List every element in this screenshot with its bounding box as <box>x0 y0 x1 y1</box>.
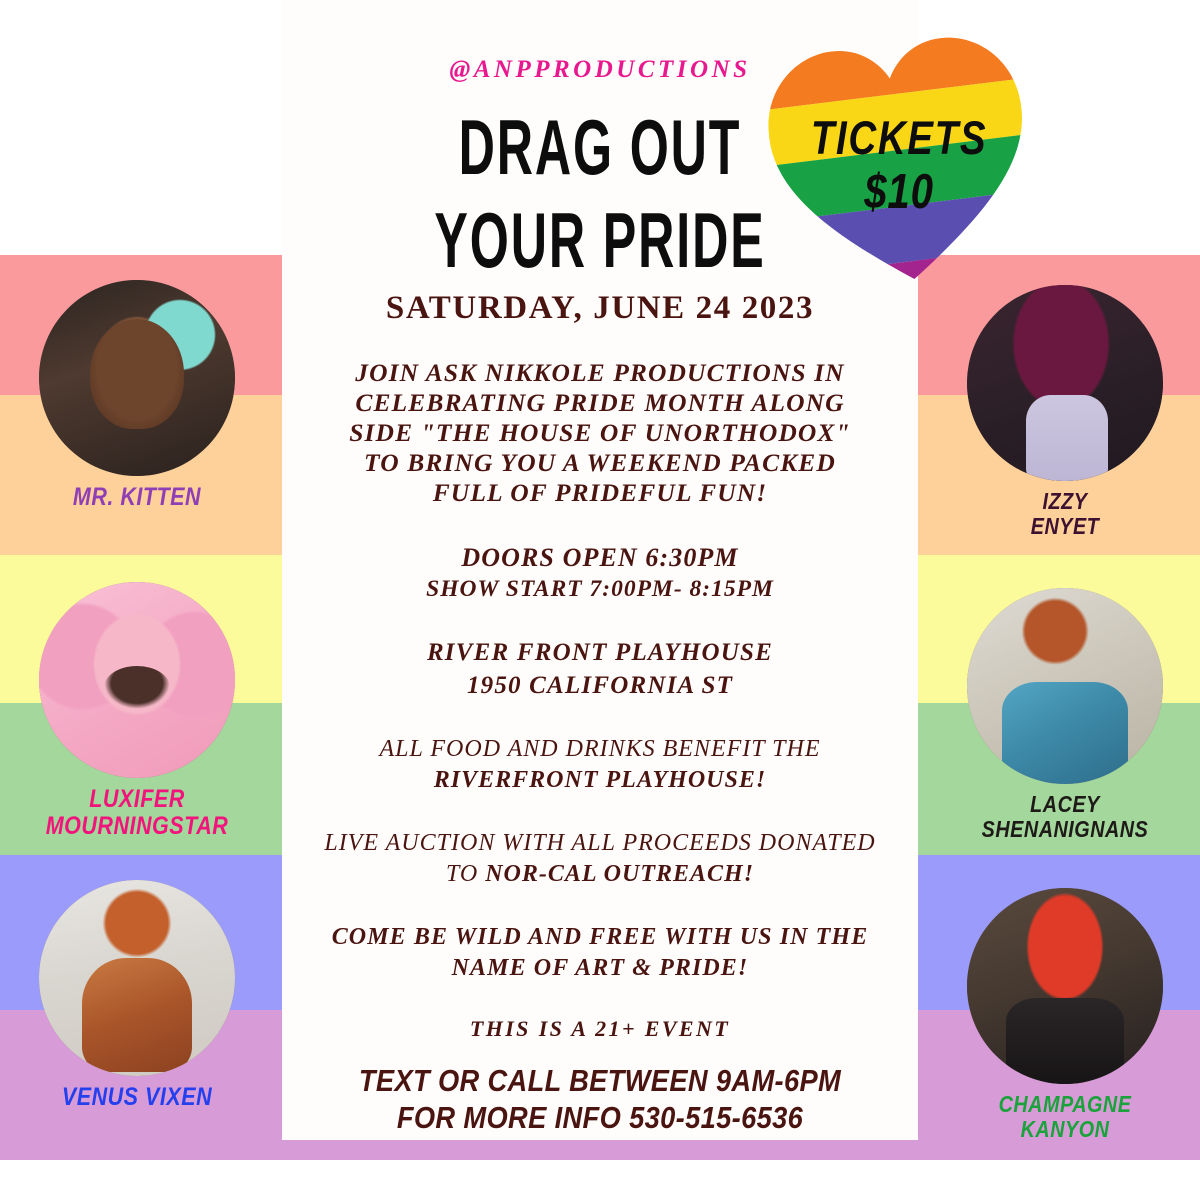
performer-photo-luxifer-mourningstar <box>39 582 235 778</box>
performer-name-line: LUXIFER <box>38 786 236 813</box>
performer-name-line: KANYON <box>966 1117 1164 1142</box>
performer-name-line: ENYET <box>966 514 1164 539</box>
venue-name: RIVER FRONT PLAYHOUSE <box>282 636 918 669</box>
performer-name-line: MR. KITTEN <box>38 484 236 511</box>
ticket-price: $10 <box>788 164 1009 220</box>
contact-phone: FOR MORE INFO 530-515-6536 <box>320 1099 880 1136</box>
performer-card-izzy-enyet: IZZY ENYET <box>950 285 1180 539</box>
intro-line: FULL OF PRIDEFUL FUN! <box>282 478 918 508</box>
venue-address: 1950 CALIFORNIA ST <box>282 669 918 702</box>
auction-line-2: TO NOR-CAL OUTREACH! <box>282 859 918 890</box>
closing-line-2: NAME OF ART & PRIDE! <box>282 953 918 984</box>
auction-prefix: TO <box>446 861 485 887</box>
performer-photo-lacey-shenanignans <box>967 588 1163 784</box>
benefit-line-2: RIVERFRONT PLAYHOUSE! <box>282 765 918 796</box>
closing-line-1: COME BE WILD AND FREE WITH US IN THE <box>282 922 918 953</box>
performer-photo-champagne-kanyon <box>967 888 1163 1084</box>
intro-paragraph: JOIN ASK NIKKOLE PRODUCTIONS IN CELEBRAT… <box>282 358 918 508</box>
event-details: JOIN ASK NIKKOLE PRODUCTIONS IN CELEBRAT… <box>282 358 918 1136</box>
performer-photo-venus-vixen <box>39 880 235 1076</box>
venue-paragraph: RIVER FRONT PLAYHOUSE 1950 CALIFORNIA ST <box>282 636 918 702</box>
performer-name-izzy-enyet: IZZY ENYET <box>966 489 1164 539</box>
schedule-paragraph: DOORS OPEN 6:30PM SHOW START 7:00PM- 8:1… <box>282 542 918 604</box>
event-date: SATURDAY, JUNE 24 2023 <box>282 290 918 327</box>
intro-line: SIDE "THE HOUSE OF UNORTHODOX" <box>282 418 918 448</box>
benefit-line-1: ALL FOOD AND DRINKS BENEFIT THE <box>282 734 918 765</box>
performer-name-line: CHAMPAGNE <box>966 1092 1164 1117</box>
intro-line: JOIN ASK NIKKOLE PRODUCTIONS IN <box>282 358 918 388</box>
auction-line-1: LIVE AUCTION WITH ALL PROCEEDS DONATED <box>282 828 918 859</box>
contact-paragraph: TEXT OR CALL BETWEEN 9AM-6PM FOR MORE IN… <box>282 1062 918 1136</box>
performer-name-line: LACEY <box>966 792 1164 817</box>
performer-name-luxifer-mourningstar: LUXIFER MOURNINGSTAR <box>38 786 236 840</box>
performer-name-line: MOURNINGSTAR <box>38 813 236 840</box>
performer-card-lacey-shenanignans: LACEY SHENANIGNANS <box>950 588 1180 842</box>
intro-line: TO BRING YOU A WEEKEND PACKED <box>282 448 918 478</box>
show-start-time: SHOW START 7:00PM- 8:15PM <box>282 574 918 604</box>
performer-card-champagne-kanyon: CHAMPAGNE KANYON <box>950 888 1180 1142</box>
performer-name-line: IZZY <box>966 489 1164 514</box>
performer-name-line: SHENANIGNANS <box>966 817 1164 842</box>
intro-line: CELEBRATING PRIDE MONTH ALONG <box>282 388 918 418</box>
benefit-paragraph: ALL FOOD AND DRINKS BENEFIT THE RIVERFRO… <box>282 734 918 796</box>
performer-card-luxifer-mourningstar: LUXIFER MOURNINGSTAR <box>22 582 252 840</box>
doors-open-time: DOORS OPEN 6:30PM <box>282 542 918 574</box>
age-restriction: THIS IS A 21+ EVENT <box>282 1014 918 1044</box>
performer-photo-mr-kitten <box>39 280 235 476</box>
event-poster: MR. KITTEN LUXIFER MOURNINGSTAR VENUS VI… <box>0 0 1200 1200</box>
contact-hours: TEXT OR CALL BETWEEN 9AM-6PM <box>320 1062 880 1099</box>
performer-name-champagne-kanyon: CHAMPAGNE KANYON <box>966 1092 1164 1142</box>
performer-card-mr-kitten: MR. KITTEN <box>22 280 252 511</box>
performer-name-lacey-shenanignans: LACEY SHENANIGNANS <box>966 792 1164 842</box>
performer-name-mr-kitten: MR. KITTEN <box>38 484 236 511</box>
performer-name-venus-vixen: VENUS VIXEN <box>38 1084 236 1111</box>
performer-name-line: VENUS VIXEN <box>38 1084 236 1111</box>
tickets-label: TICKETS <box>788 110 1009 165</box>
auction-paragraph: LIVE AUCTION WITH ALL PROCEEDS DONATED T… <box>282 828 918 890</box>
performer-card-venus-vixen: VENUS VIXEN <box>22 880 252 1111</box>
closing-paragraph: COME BE WILD AND FREE WITH US IN THE NAM… <box>282 922 918 984</box>
ticket-price-heart-badge: TICKETS $10 <box>764 22 1034 284</box>
auction-beneficiary: NOR-CAL OUTREACH! <box>485 861 754 887</box>
performer-photo-izzy-enyet <box>967 285 1163 481</box>
